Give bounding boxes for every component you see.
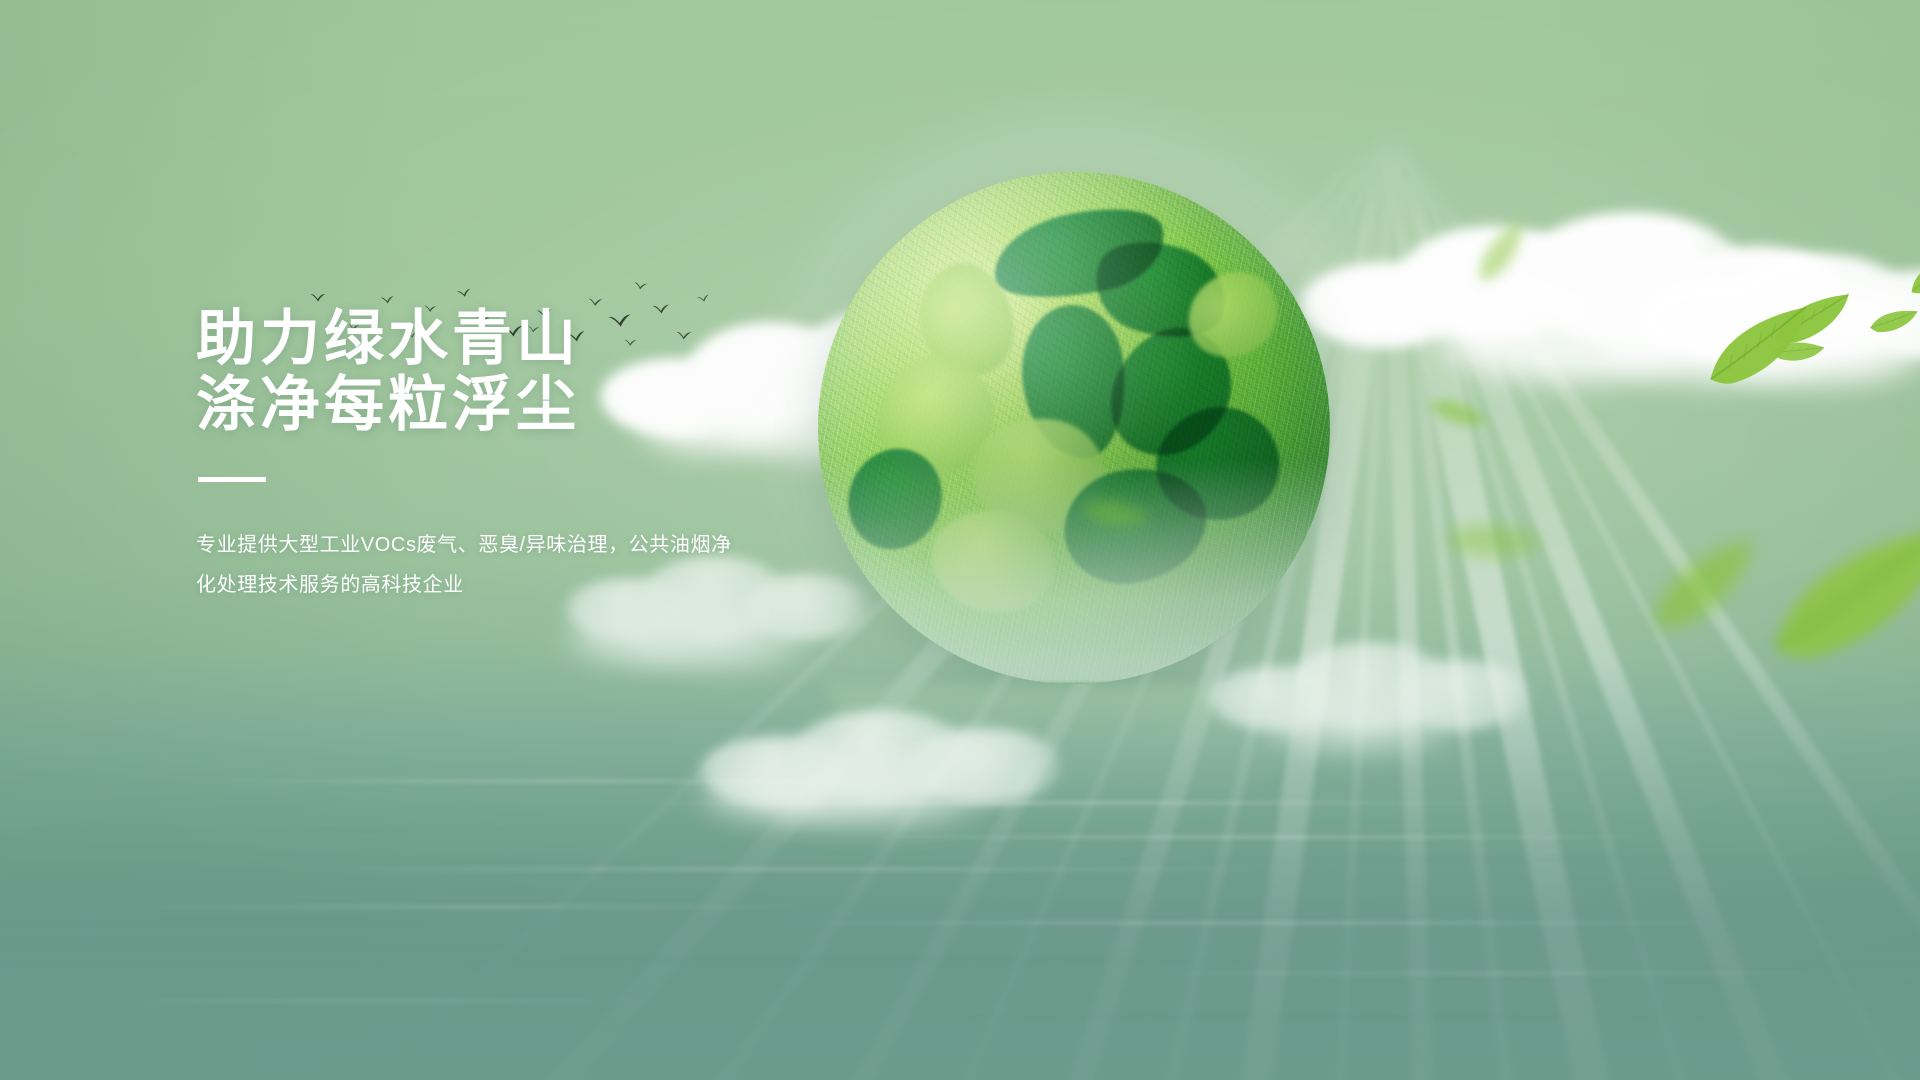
- cloud-puff: [1440, 298, 1700, 382]
- sun-ray: [1386, 129, 1810, 1080]
- headline-line-1: 助力绿水青山: [196, 306, 836, 372]
- leaf: [1770, 336, 1825, 369]
- cloud-puff: [1390, 660, 1530, 730]
- globe-sphere: [818, 172, 1330, 684]
- water-ripple: [0, 828, 560, 830]
- cloud-puff: [1776, 278, 1920, 356]
- headline-line-2: 涤净每粒浮尘: [196, 372, 836, 438]
- sun-ray: [1387, 128, 1920, 1080]
- bird-silhouette: [455, 284, 471, 296]
- water-ripple: [60, 1000, 680, 1002]
- leaf: [1868, 308, 1919, 334]
- bird-silhouette: [695, 289, 709, 300]
- sun-ray: [1380, 130, 1450, 1080]
- grass-earth-globe-icon: [818, 172, 1330, 684]
- cloud-puff: [1846, 270, 1920, 358]
- water-ripple: [840, 836, 1680, 838]
- cloud-puff: [1668, 246, 1848, 346]
- bird-silhouette: [588, 293, 604, 303]
- water-ripple: [300, 868, 1280, 870]
- cloud-puff: [1710, 310, 1920, 384]
- sun-ray: [1373, 126, 1701, 1080]
- water-ripple: [120, 906, 820, 908]
- leaf: [1748, 515, 1920, 678]
- cloud-puff: [1516, 212, 1748, 346]
- cloud-puff: [1732, 254, 1912, 358]
- cloud-puff: [700, 766, 870, 820]
- water-ripple: [180, 780, 940, 782]
- bird-silhouette: [633, 277, 648, 288]
- cloud-puff: [1258, 690, 1468, 750]
- leaf: [1442, 506, 1547, 578]
- water-ripple: [880, 1016, 1780, 1018]
- leaf: [1902, 250, 1920, 299]
- cloud-far-right: [1640, 248, 1920, 418]
- water-ripple: [1080, 858, 1840, 860]
- water-ripple: [760, 922, 1760, 924]
- hero-subtitle: 专业提供大型工业VOCs废气、恶臭/异味治理，公共油烟净化处理技术服务的高科技企…: [196, 525, 736, 605]
- water-ripple: [620, 802, 1520, 804]
- cloud-puff: [1600, 308, 1840, 382]
- leaf: [1464, 217, 1540, 289]
- cloud-puff: [1396, 226, 1592, 342]
- leaf: [1694, 300, 1826, 396]
- cloud-puff: [760, 758, 1000, 824]
- leaf: [1425, 386, 1490, 442]
- sun-ray: [1384, 129, 1569, 1080]
- cloud-puff: [626, 604, 816, 668]
- cloud-puff: [1640, 282, 1796, 360]
- bird-silhouette: [310, 290, 326, 300]
- leaf: [1633, 531, 1776, 642]
- water-ripple: [420, 960, 1280, 962]
- sun-ray: [1383, 126, 1920, 1080]
- globe-mist: [818, 459, 1330, 684]
- bird-silhouette: [380, 291, 395, 301]
- cloud-puff: [700, 736, 860, 806]
- hero-copy-block: 助力绿水青山 涤净每粒浮尘 专业提供大型工业VOCs废气、恶臭/异味治理，公共油…: [196, 306, 836, 605]
- sun-ray: [1378, 125, 1920, 1080]
- eco-hero-banner: 助力绿水青山 涤净每粒浮尘 专业提供大型工业VOCs废气、恶臭/异味治理，公共油…: [0, 0, 1920, 1080]
- water-ripple: [1140, 972, 1840, 974]
- headline-divider: [198, 477, 266, 482]
- cloud-puff: [566, 610, 716, 664]
- leaf: [1766, 289, 1860, 351]
